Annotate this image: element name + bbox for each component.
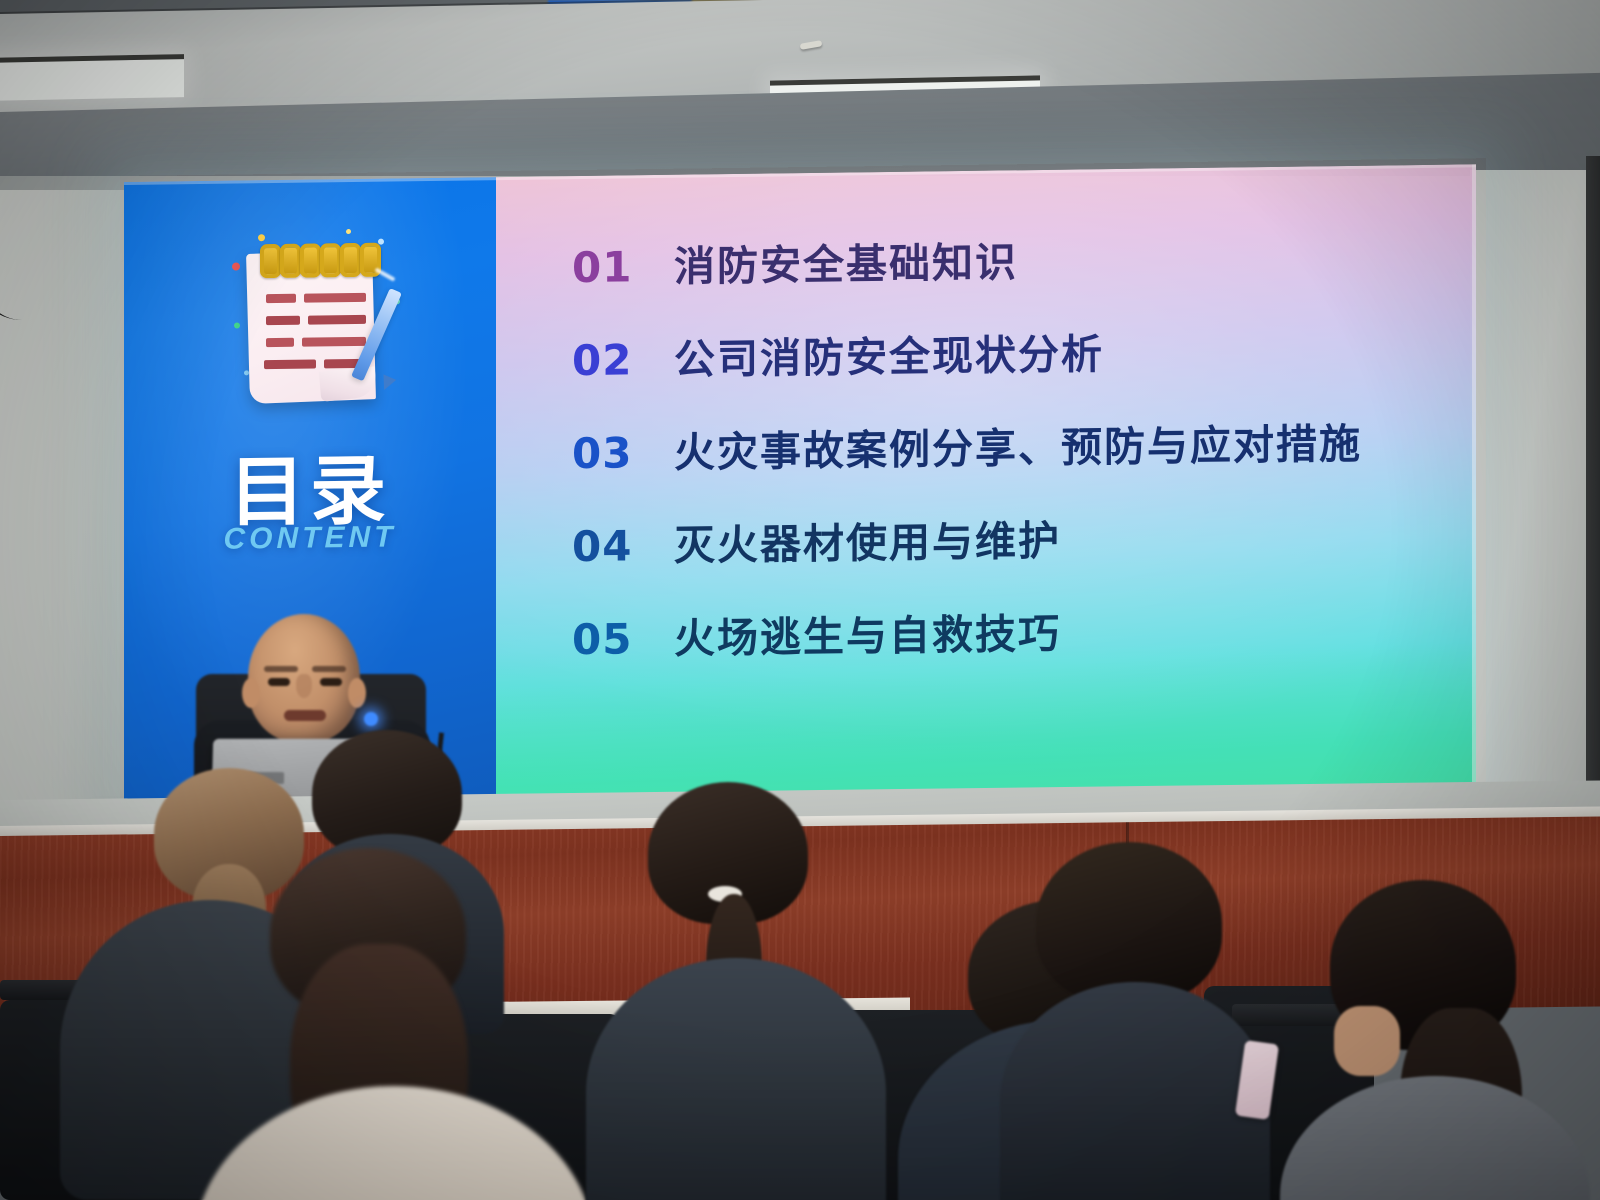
agenda-item-03: 03 火灾事故案例分享、预防与应对措施: [572, 409, 1452, 514]
agenda-label: 火灾事故案例分享、预防与应对措施: [674, 410, 1362, 479]
agenda-item-02: 02 公司消防安全现状分析: [572, 316, 1452, 421]
agenda-number: 02: [572, 335, 642, 385]
presenter-nose: [296, 674, 312, 698]
power-cable: [0, 200, 39, 320]
presenter-mouth: [284, 710, 326, 721]
hair: [1036, 842, 1222, 1004]
agenda-number: 05: [572, 614, 642, 664]
agenda-number: 03: [572, 428, 642, 478]
agenda-number: 04: [572, 521, 642, 571]
agenda-label: 灭火器材使用与维护: [674, 507, 1061, 572]
agenda-item-01: 01 消防安全基础知识: [572, 223, 1452, 328]
screen-right-edge: [1472, 164, 1476, 790]
pen-tip: [378, 374, 396, 392]
notepad-icon: [228, 228, 404, 412]
neck: [1334, 1006, 1400, 1076]
agenda-item-05: 05 火场逃生与自救技巧: [572, 595, 1452, 700]
slide-title-en: CONTENT: [124, 519, 496, 558]
agenda-label: 消防安全基础知识: [674, 228, 1018, 293]
agenda-list: 01 消防安全基础知识 02 公司消防安全现状分析 03 火灾事故案例分享、预防…: [572, 223, 1452, 700]
agenda-label: 火场逃生与自救技巧: [674, 600, 1061, 665]
presenter-badge-light: [364, 712, 378, 726]
presentation-room-photo: 目录 CONTENT 01 消防安全基础知识 02 公司消防安全现状分析 03 …: [0, 0, 1600, 1200]
agenda-number: 01: [572, 242, 642, 292]
agenda-item-04: 04 灭火器材使用与维护: [572, 502, 1452, 607]
ceiling-light-panel-left: [0, 54, 184, 101]
agenda-label: 公司消防安全现状分析: [674, 320, 1104, 386]
